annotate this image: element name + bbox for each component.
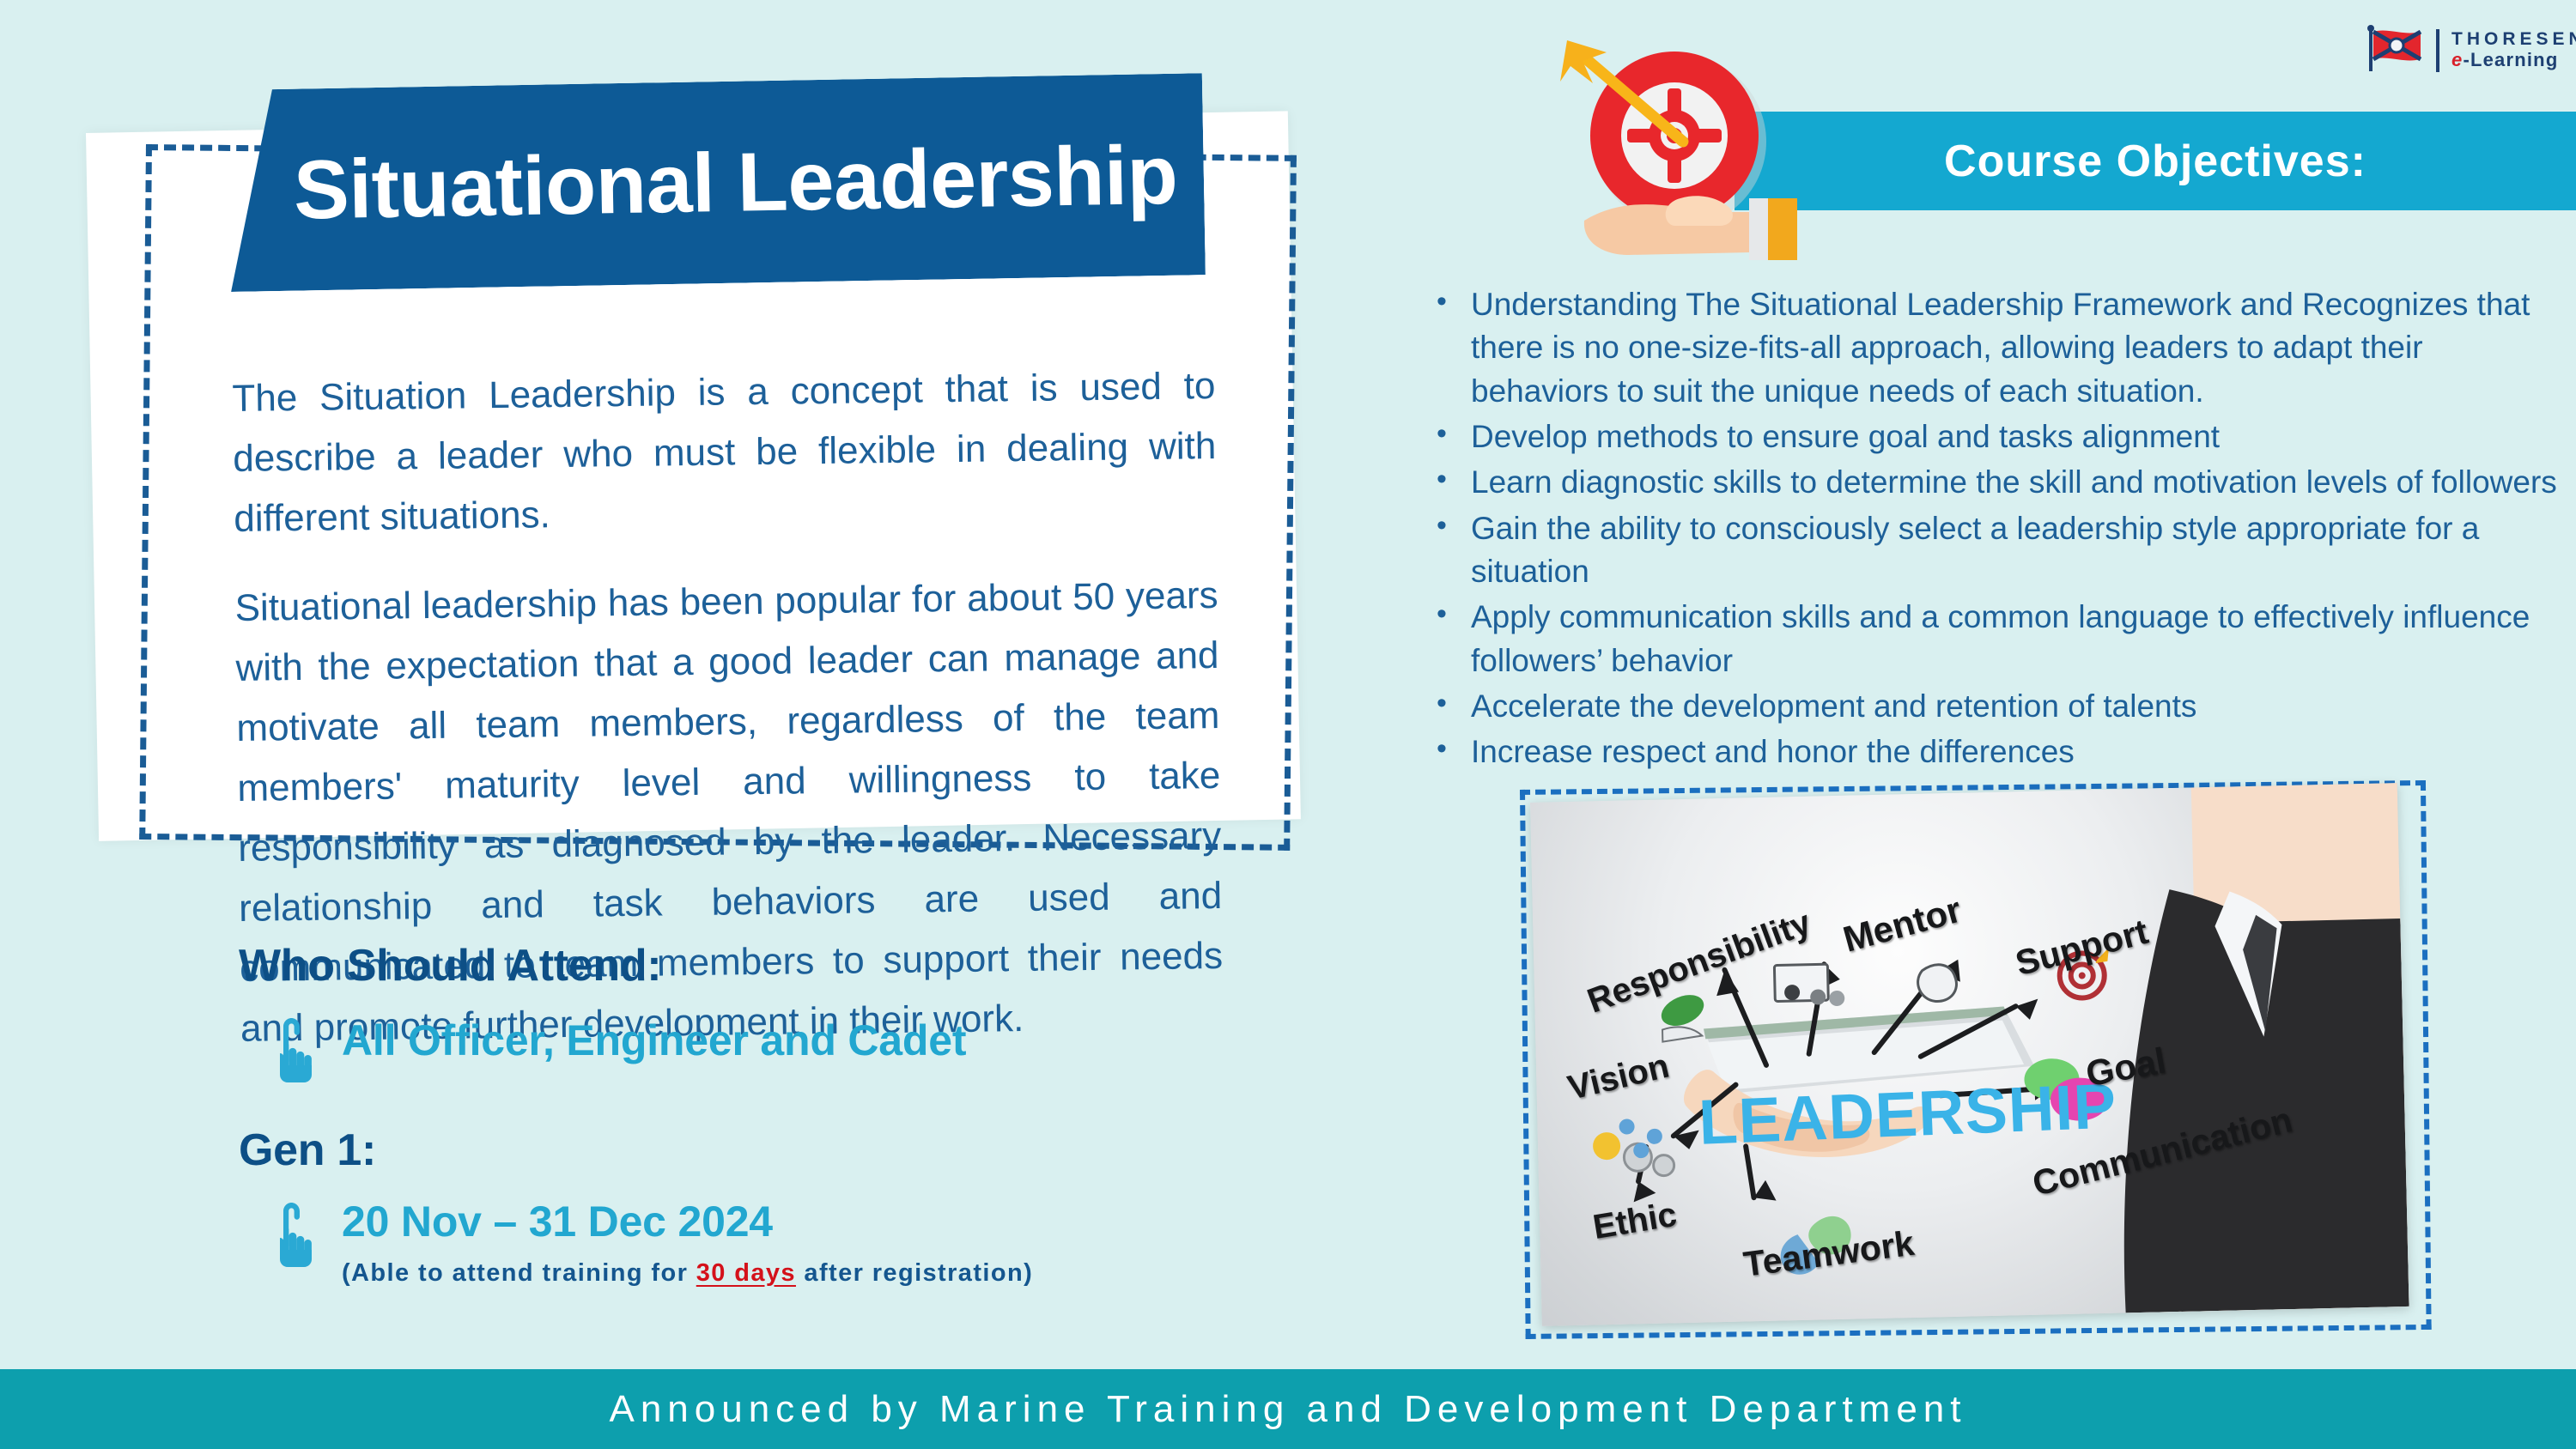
leadership-photo: LEADERSHIP Responsibility Mentor Support… [1530,783,2409,1326]
bullet-glyph: • [1437,729,1447,768]
thoresen-logo: THORESEN e-Learning [2366,24,2550,77]
objective-item: •Understanding The Situational Leadershi… [1471,283,2563,413]
objective-text: Learn diagnostic skills to determine the… [1471,464,2557,500]
objective-item: •Accelerate the development and retentio… [1471,685,2563,728]
objective-text: Understanding The Situational Leadership… [1471,287,2530,409]
objective-item: •Gain the ability to consciously select … [1471,507,2563,594]
bullet-glyph: • [1437,506,1447,545]
objective-item: •Develop methods to ensure goal and task… [1471,415,2563,458]
objective-text: Gain the ability to consciously select a… [1471,511,2479,589]
page-title-banner: Situational Leadership [228,73,1206,292]
target-with-arrow-icon [1533,21,1799,288]
footer-bar: Announced by Marine Training and Develop… [0,1369,2576,1449]
registration-note: (Able to attend training for 30 days aft… [342,1259,1033,1288]
thoresen-flag-icon [2366,25,2426,77]
objective-text: Develop methods to ensure goal and tasks… [1471,419,2220,454]
date-range: 20 Nov – 31 Dec 2024 [342,1197,773,1246]
objective-item: •Increase respect and honor the differen… [1471,731,2563,773]
objective-text: Increase respect and honor the differenc… [1471,734,2075,769]
objectives-ul: •Understanding The Situational Leadershi… [1421,283,2563,773]
audience-row: All Officer, Engineer and Cadet [239,1016,1269,1084]
logo-e: e [2451,49,2463,70]
pointing-hand-icon [264,1200,318,1269]
course-objectives-bar: Course Objectives: [1735,112,2576,210]
bullet-glyph: • [1437,459,1447,499]
logo-line-1: THORESEN [2451,29,2576,49]
pointing-hand-icon [264,1016,318,1084]
logo-line-2: e-Learning [2451,49,2558,70]
bullet-glyph: • [1437,282,1447,321]
objective-text: Apply communication skills and a common … [1471,599,2530,677]
page-title: Situational Leadership [293,126,1178,238]
intro-paragraph-1: The Situation Leadership is a concept th… [232,356,1218,549]
bullet-glyph: • [1437,594,1447,634]
objective-text: Accelerate the development and retention… [1471,688,2196,724]
gen-heading: Gen 1: [239,1125,1355,1176]
schedule-row: 20 Nov – 31 Dec 2024 (Able to attend tra… [239,1200,1355,1288]
course-objectives-heading: Course Objectives: [1944,136,2366,187]
note-highlight: 30 days [696,1259,796,1287]
slide-canvas: Situational Leadership The Situation Lea… [0,0,2576,1449]
who-should-attend-block: Who Should Attend: All Officer, Engineer… [239,940,1269,1084]
who-should-attend-heading: Who Should Attend: [239,940,1269,991]
logo-learning: -Learning [2463,49,2558,70]
audience-label: All Officer, Engineer and Cadet [342,1016,966,1065]
logo-text: THORESEN e-Learning [2436,29,2576,71]
note-prefix: (Able to attend training for [342,1259,696,1287]
objective-item: •Learn diagnostic skills to determine th… [1471,461,2563,504]
schedule-block: Gen 1: 20 Nov – 31 Dec 2024 (Able to att… [239,1125,1355,1288]
objective-item: •Apply communication skills and a common… [1471,596,2563,682]
bullet-glyph: • [1437,683,1447,723]
course-objectives-list: •Understanding The Situational Leadershi… [1421,283,2563,776]
footer-text: Announced by Marine Training and Develop… [609,1388,1966,1431]
schedule-text: 20 Nov – 31 Dec 2024 (Able to attend tra… [342,1200,1033,1288]
note-suffix: after registration) [796,1259,1033,1287]
bullet-glyph: • [1437,414,1447,453]
